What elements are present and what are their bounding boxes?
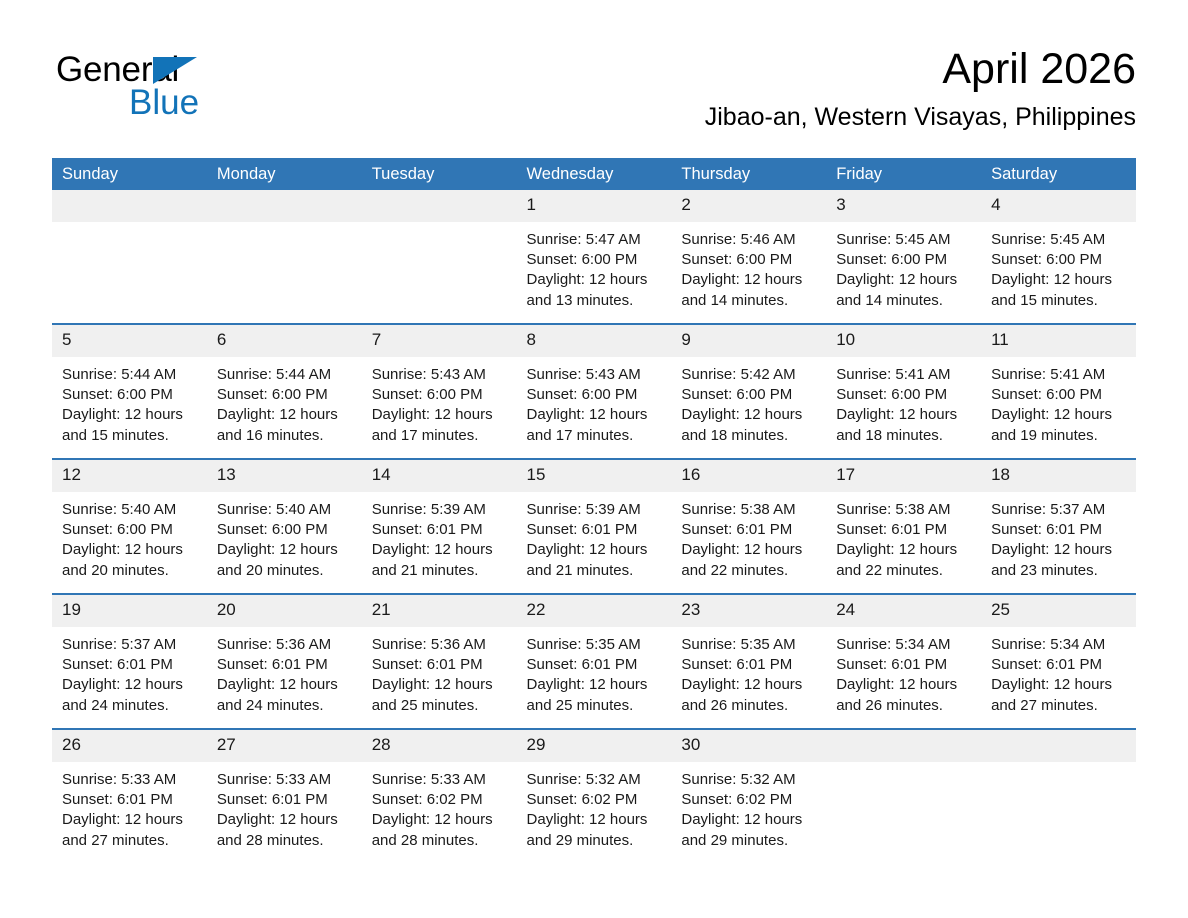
day-cell-inner: 11Sunrise: 5:41 AMSunset: 6:00 PMDayligh…: [981, 325, 1136, 458]
daylight-text-line2: and 22 minutes.: [681, 561, 820, 581]
sunrise-text: Sunrise: 5:37 AM: [991, 500, 1130, 520]
sunset-text: Sunset: 6:00 PM: [991, 385, 1130, 405]
page-title: April 2026: [705, 44, 1136, 94]
calendar-day-cell[interactable]: 15Sunrise: 5:39 AMSunset: 6:01 PMDayligh…: [517, 460, 672, 593]
calendar-day-cell[interactable]: 5Sunrise: 5:44 AMSunset: 6:00 PMDaylight…: [52, 325, 207, 458]
sunrise-text: Sunrise: 5:43 AM: [527, 365, 666, 385]
day-details: Sunrise: 5:45 AMSunset: 6:00 PMDaylight:…: [981, 222, 1136, 311]
day-number: 17: [836, 465, 855, 484]
day-details: Sunrise: 5:38 AMSunset: 6:01 PMDaylight:…: [671, 492, 826, 581]
day-details: Sunrise: 5:32 AMSunset: 6:02 PMDaylight:…: [517, 762, 672, 851]
daylight-text-line1: Daylight: 12 hours: [991, 270, 1130, 290]
day-number-band: 26: [52, 730, 207, 762]
daylight-text-line1: Daylight: 12 hours: [62, 675, 201, 695]
day-number: 27: [217, 735, 236, 754]
calendar-week-row: 5Sunrise: 5:44 AMSunset: 6:00 PMDaylight…: [52, 325, 1136, 458]
day-number-band: [981, 730, 1136, 762]
daylight-text-line2: and 17 minutes.: [372, 426, 511, 446]
calendar-day-cell[interactable]: 17Sunrise: 5:38 AMSunset: 6:01 PMDayligh…: [826, 460, 981, 593]
day-number-band: 6: [207, 325, 362, 357]
daylight-text-line2: and 15 minutes.: [991, 291, 1130, 311]
daylight-text-line2: and 27 minutes.: [991, 696, 1130, 716]
daylight-text-line1: Daylight: 12 hours: [991, 540, 1130, 560]
day-number-band: [362, 190, 517, 222]
general-blue-logo[interactable]: General Blue: [56, 52, 316, 122]
day-number-band: 21: [362, 595, 517, 627]
sunset-text: Sunset: 6:00 PM: [681, 250, 820, 270]
day-number: 28: [372, 735, 391, 754]
day-number: 21: [372, 600, 391, 619]
day-number: 11: [991, 330, 1009, 349]
logo-text-blue: Blue: [129, 85, 199, 120]
day-number-band: 23: [671, 595, 826, 627]
sunrise-text: Sunrise: 5:36 AM: [217, 635, 356, 655]
daylight-text-line1: Daylight: 12 hours: [217, 540, 356, 560]
location-subtitle: Jibao-an, Western Visayas, Philippines: [705, 102, 1136, 132]
sunrise-text: Sunrise: 5:45 AM: [991, 230, 1130, 250]
day-cell-inner: 8Sunrise: 5:43 AMSunset: 6:00 PMDaylight…: [517, 325, 672, 458]
daylight-text-line2: and 23 minutes.: [991, 561, 1130, 581]
calendar-day-cell[interactable]: 16Sunrise: 5:38 AMSunset: 6:01 PMDayligh…: [671, 460, 826, 593]
day-number: 18: [991, 465, 1010, 484]
daylight-text-line1: Daylight: 12 hours: [527, 270, 666, 290]
daylight-text-line1: Daylight: 12 hours: [217, 675, 356, 695]
day-cell-inner: 19Sunrise: 5:37 AMSunset: 6:01 PMDayligh…: [52, 595, 207, 728]
daylight-text-line2: and 22 minutes.: [836, 561, 975, 581]
sunset-text: Sunset: 6:00 PM: [991, 250, 1130, 270]
daylight-text-line2: and 28 minutes.: [372, 831, 511, 851]
day-cell-inner: [52, 190, 207, 323]
day-details: Sunrise: 5:40 AMSunset: 6:00 PMDaylight:…: [207, 492, 362, 581]
day-details: Sunrise: 5:36 AMSunset: 6:01 PMDaylight:…: [362, 627, 517, 716]
day-number: 6: [217, 330, 226, 349]
day-number: 10: [836, 330, 855, 349]
day-cell-inner: 6Sunrise: 5:44 AMSunset: 6:00 PMDaylight…: [207, 325, 362, 458]
sunrise-text: Sunrise: 5:38 AM: [681, 500, 820, 520]
calendar-day-cell[interactable]: 20Sunrise: 5:36 AMSunset: 6:01 PMDayligh…: [207, 595, 362, 728]
sunrise-text: Sunrise: 5:36 AM: [372, 635, 511, 655]
calendar-week-row: 26Sunrise: 5:33 AMSunset: 6:01 PMDayligh…: [52, 730, 1136, 863]
weekday-header-thursday: Thursday: [671, 158, 826, 190]
sunrise-text: Sunrise: 5:33 AM: [217, 770, 356, 790]
day-cell-inner: 12Sunrise: 5:40 AMSunset: 6:00 PMDayligh…: [52, 460, 207, 593]
calendar-day-cell[interactable]: 7Sunrise: 5:43 AMSunset: 6:00 PMDaylight…: [362, 325, 517, 458]
sunrise-text: Sunrise: 5:39 AM: [372, 500, 511, 520]
calendar-day-cell[interactable]: 21Sunrise: 5:36 AMSunset: 6:01 PMDayligh…: [362, 595, 517, 728]
sunrise-text: Sunrise: 5:34 AM: [991, 635, 1130, 655]
day-number: 29: [527, 735, 546, 754]
calendar-day-cell[interactable]: 9Sunrise: 5:42 AMSunset: 6:00 PMDaylight…: [671, 325, 826, 458]
daylight-text-line1: Daylight: 12 hours: [527, 405, 666, 425]
title-block: April 2026 Jibao-an, Western Visayas, Ph…: [705, 44, 1136, 132]
calendar-day-cell[interactable]: 26Sunrise: 5:33 AMSunset: 6:01 PMDayligh…: [52, 730, 207, 863]
day-number-band: 12: [52, 460, 207, 492]
sunrise-text: Sunrise: 5:33 AM: [372, 770, 511, 790]
sunset-text: Sunset: 6:00 PM: [527, 385, 666, 405]
day-details: Sunrise: 5:35 AMSunset: 6:01 PMDaylight:…: [671, 627, 826, 716]
day-cell-inner: 10Sunrise: 5:41 AMSunset: 6:00 PMDayligh…: [826, 325, 981, 458]
sunset-text: Sunset: 6:01 PM: [527, 520, 666, 540]
day-details: Sunrise: 5:41 AMSunset: 6:00 PMDaylight:…: [826, 357, 981, 446]
day-cell-inner: 15Sunrise: 5:39 AMSunset: 6:01 PMDayligh…: [517, 460, 672, 593]
sunrise-text: Sunrise: 5:47 AM: [527, 230, 666, 250]
day-details: Sunrise: 5:45 AMSunset: 6:00 PMDaylight:…: [826, 222, 981, 311]
day-number: 4: [991, 195, 1000, 214]
daylight-text-line2: and 21 minutes.: [527, 561, 666, 581]
calendar-week-row: 1Sunrise: 5:47 AMSunset: 6:00 PMDaylight…: [52, 190, 1136, 323]
day-number-band: 25: [981, 595, 1136, 627]
daylight-text-line1: Daylight: 12 hours: [527, 810, 666, 830]
day-details: [826, 762, 981, 770]
calendar-day-cell[interactable]: 13Sunrise: 5:40 AMSunset: 6:00 PMDayligh…: [207, 460, 362, 593]
sunrise-text: Sunrise: 5:40 AM: [62, 500, 201, 520]
sunset-text: Sunset: 6:01 PM: [681, 520, 820, 540]
daylight-text-line1: Daylight: 12 hours: [217, 405, 356, 425]
sunrise-text: Sunrise: 5:46 AM: [681, 230, 820, 250]
day-number: 14: [372, 465, 391, 484]
day-cell-inner: 20Sunrise: 5:36 AMSunset: 6:01 PMDayligh…: [207, 595, 362, 728]
day-details: Sunrise: 5:36 AMSunset: 6:01 PMDaylight:…: [207, 627, 362, 716]
calendar-day-cell[interactable]: 1Sunrise: 5:47 AMSunset: 6:00 PMDaylight…: [517, 190, 672, 323]
sunset-text: Sunset: 6:00 PM: [372, 385, 511, 405]
day-number-band: 13: [207, 460, 362, 492]
day-cell-inner: 16Sunrise: 5:38 AMSunset: 6:01 PMDayligh…: [671, 460, 826, 593]
daylight-text-line2: and 17 minutes.: [527, 426, 666, 446]
daylight-text-line2: and 25 minutes.: [372, 696, 511, 716]
calendar-day-cell[interactable]: 11Sunrise: 5:41 AMSunset: 6:00 PMDayligh…: [981, 325, 1136, 458]
day-cell-inner: [826, 730, 981, 863]
weekday-header-sunday: Sunday: [52, 158, 207, 190]
daylight-text-line2: and 16 minutes.: [217, 426, 356, 446]
day-number: 5: [62, 330, 71, 349]
daylight-text-line1: Daylight: 12 hours: [527, 675, 666, 695]
day-number-band: 29: [517, 730, 672, 762]
day-cell-inner: [981, 730, 1136, 863]
calendar-day-cell[interactable]: 27Sunrise: 5:33 AMSunset: 6:01 PMDayligh…: [207, 730, 362, 863]
sunset-text: Sunset: 6:01 PM: [217, 790, 356, 810]
calendar-week-row: 12Sunrise: 5:40 AMSunset: 6:00 PMDayligh…: [52, 460, 1136, 593]
weekday-header-monday: Monday: [207, 158, 362, 190]
day-number: 24: [836, 600, 855, 619]
day-details: Sunrise: 5:41 AMSunset: 6:00 PMDaylight:…: [981, 357, 1136, 446]
day-details: Sunrise: 5:32 AMSunset: 6:02 PMDaylight:…: [671, 762, 826, 851]
daylight-text-line1: Daylight: 12 hours: [681, 540, 820, 560]
day-cell-inner: 24Sunrise: 5:34 AMSunset: 6:01 PMDayligh…: [826, 595, 981, 728]
day-details: Sunrise: 5:43 AMSunset: 6:00 PMDaylight:…: [517, 357, 672, 446]
calendar-body: 1Sunrise: 5:47 AMSunset: 6:00 PMDaylight…: [52, 190, 1136, 863]
daylight-text-line1: Daylight: 12 hours: [217, 810, 356, 830]
daylight-text-line1: Daylight: 12 hours: [991, 405, 1130, 425]
calendar-day-cell[interactable]: 25Sunrise: 5:34 AMSunset: 6:01 PMDayligh…: [981, 595, 1136, 728]
sunset-text: Sunset: 6:01 PM: [991, 655, 1130, 675]
sunrise-text: Sunrise: 5:42 AM: [681, 365, 820, 385]
day-number: 13: [217, 465, 236, 484]
sunset-text: Sunset: 6:00 PM: [217, 520, 356, 540]
day-details: Sunrise: 5:46 AMSunset: 6:00 PMDaylight:…: [671, 222, 826, 311]
day-number-band: [52, 190, 207, 222]
day-details: Sunrise: 5:33 AMSunset: 6:01 PMDaylight:…: [52, 762, 207, 851]
daylight-text-line1: Daylight: 12 hours: [372, 810, 511, 830]
daylight-text-line2: and 26 minutes.: [681, 696, 820, 716]
sunset-text: Sunset: 6:02 PM: [681, 790, 820, 810]
calendar-day-cell[interactable]: 3Sunrise: 5:45 AMSunset: 6:00 PMDaylight…: [826, 190, 981, 323]
sunrise-text: Sunrise: 5:39 AM: [527, 500, 666, 520]
weekday-header-friday: Friday: [826, 158, 981, 190]
daylight-text-line2: and 25 minutes.: [527, 696, 666, 716]
day-cell-inner: 22Sunrise: 5:35 AMSunset: 6:01 PMDayligh…: [517, 595, 672, 728]
sunset-text: Sunset: 6:01 PM: [217, 655, 356, 675]
weekday-header-saturday: Saturday: [981, 158, 1136, 190]
day-number-band: 27: [207, 730, 362, 762]
daylight-text-line1: Daylight: 12 hours: [991, 675, 1130, 695]
sunset-text: Sunset: 6:00 PM: [681, 385, 820, 405]
day-number-band: 28: [362, 730, 517, 762]
daylight-text-line2: and 24 minutes.: [217, 696, 356, 716]
daylight-text-line1: Daylight: 12 hours: [681, 810, 820, 830]
day-number-band: 2: [671, 190, 826, 222]
calendar-day-cell[interactable]: 30Sunrise: 5:32 AMSunset: 6:02 PMDayligh…: [671, 730, 826, 863]
calendar-empty-cell: [981, 730, 1136, 863]
daylight-text-line2: and 15 minutes.: [62, 426, 201, 446]
day-details: [981, 762, 1136, 770]
day-cell-inner: [207, 190, 362, 323]
day-cell-inner: 28Sunrise: 5:33 AMSunset: 6:02 PMDayligh…: [362, 730, 517, 863]
calendar-empty-cell: [826, 730, 981, 863]
day-cell-inner: 26Sunrise: 5:33 AMSunset: 6:01 PMDayligh…: [52, 730, 207, 863]
day-number: 7: [372, 330, 381, 349]
sunrise-text: Sunrise: 5:40 AM: [217, 500, 356, 520]
daylight-text-line2: and 29 minutes.: [527, 831, 666, 851]
daylight-text-line2: and 26 minutes.: [836, 696, 975, 716]
calendar-day-cell[interactable]: 10Sunrise: 5:41 AMSunset: 6:00 PMDayligh…: [826, 325, 981, 458]
day-number-band: 15: [517, 460, 672, 492]
day-number: 8: [527, 330, 536, 349]
day-number-band: [207, 190, 362, 222]
daylight-text-line2: and 24 minutes.: [62, 696, 201, 716]
daylight-text-line1: Daylight: 12 hours: [836, 675, 975, 695]
day-number-band: 4: [981, 190, 1136, 222]
day-number-band: 9: [671, 325, 826, 357]
calendar-day-cell[interactable]: 4Sunrise: 5:45 AMSunset: 6:00 PMDaylight…: [981, 190, 1136, 323]
sunset-text: Sunset: 6:01 PM: [62, 655, 201, 675]
day-cell-inner: 21Sunrise: 5:36 AMSunset: 6:01 PMDayligh…: [362, 595, 517, 728]
day-details: Sunrise: 5:42 AMSunset: 6:00 PMDaylight:…: [671, 357, 826, 446]
day-cell-inner: 25Sunrise: 5:34 AMSunset: 6:01 PMDayligh…: [981, 595, 1136, 728]
day-number: 3: [836, 195, 845, 214]
calendar-table: SundayMondayTuesdayWednesdayThursdayFrid…: [52, 158, 1136, 863]
calendar-week-row: 19Sunrise: 5:37 AMSunset: 6:01 PMDayligh…: [52, 595, 1136, 728]
sunset-text: Sunset: 6:00 PM: [62, 385, 201, 405]
sunrise-text: Sunrise: 5:37 AM: [62, 635, 201, 655]
sunrise-text: Sunrise: 5:35 AM: [527, 635, 666, 655]
page-header: General Blue April 2026 Jibao-an, Wester…: [52, 44, 1136, 149]
sunset-text: Sunset: 6:02 PM: [527, 790, 666, 810]
day-number-band: 11: [981, 325, 1136, 357]
daylight-text-line1: Daylight: 12 hours: [527, 540, 666, 560]
day-number: 2: [681, 195, 690, 214]
calendar-header-row: SundayMondayTuesdayWednesdayThursdayFrid…: [52, 158, 1136, 190]
calendar-empty-cell: [52, 190, 207, 323]
daylight-text-line1: Daylight: 12 hours: [681, 675, 820, 695]
sunset-text: Sunset: 6:02 PM: [372, 790, 511, 810]
calendar-day-cell[interactable]: 24Sunrise: 5:34 AMSunset: 6:01 PMDayligh…: [826, 595, 981, 728]
day-number: 26: [62, 735, 81, 754]
day-cell-inner: 14Sunrise: 5:39 AMSunset: 6:01 PMDayligh…: [362, 460, 517, 593]
calendar-day-cell[interactable]: 29Sunrise: 5:32 AMSunset: 6:02 PMDayligh…: [517, 730, 672, 863]
sunrise-text: Sunrise: 5:41 AM: [836, 365, 975, 385]
calendar-day-cell[interactable]: 2Sunrise: 5:46 AMSunset: 6:00 PMDaylight…: [671, 190, 826, 323]
sunset-text: Sunset: 6:00 PM: [836, 385, 975, 405]
day-details: Sunrise: 5:33 AMSunset: 6:02 PMDaylight:…: [362, 762, 517, 851]
calendar-day-cell[interactable]: 28Sunrise: 5:33 AMSunset: 6:02 PMDayligh…: [362, 730, 517, 863]
daylight-text-line1: Daylight: 12 hours: [62, 810, 201, 830]
daylight-text-line2: and 19 minutes.: [991, 426, 1130, 446]
day-number-band: 22: [517, 595, 672, 627]
day-cell-inner: [362, 190, 517, 323]
calendar-day-cell[interactable]: 8Sunrise: 5:43 AMSunset: 6:00 PMDaylight…: [517, 325, 672, 458]
daylight-text-line1: Daylight: 12 hours: [372, 540, 511, 560]
day-number-band: 5: [52, 325, 207, 357]
day-details: Sunrise: 5:47 AMSunset: 6:00 PMDaylight:…: [517, 222, 672, 311]
day-cell-inner: 17Sunrise: 5:38 AMSunset: 6:01 PMDayligh…: [826, 460, 981, 593]
daylight-text-line2: and 14 minutes.: [836, 291, 975, 311]
calendar-day-cell[interactable]: 23Sunrise: 5:35 AMSunset: 6:01 PMDayligh…: [671, 595, 826, 728]
sunrise-text: Sunrise: 5:38 AM: [836, 500, 975, 520]
day-details: Sunrise: 5:44 AMSunset: 6:00 PMDaylight:…: [207, 357, 362, 446]
daylight-text-line2: and 21 minutes.: [372, 561, 511, 581]
sunset-text: Sunset: 6:00 PM: [62, 520, 201, 540]
day-cell-inner: 29Sunrise: 5:32 AMSunset: 6:02 PMDayligh…: [517, 730, 672, 863]
day-number: 25: [991, 600, 1010, 619]
day-number-band: 24: [826, 595, 981, 627]
day-number-band: 20: [207, 595, 362, 627]
day-number: 22: [527, 600, 546, 619]
calendar-day-cell[interactable]: 19Sunrise: 5:37 AMSunset: 6:01 PMDayligh…: [52, 595, 207, 728]
daylight-text-line1: Daylight: 12 hours: [372, 405, 511, 425]
day-details: Sunrise: 5:34 AMSunset: 6:01 PMDaylight:…: [981, 627, 1136, 716]
daylight-text-line2: and 13 minutes.: [527, 291, 666, 311]
calendar-empty-cell: [362, 190, 517, 323]
daylight-text-line2: and 20 minutes.: [62, 561, 201, 581]
daylight-text-line2: and 14 minutes.: [681, 291, 820, 311]
day-number: 9: [681, 330, 690, 349]
calendar-day-cell[interactable]: 12Sunrise: 5:40 AMSunset: 6:00 PMDayligh…: [52, 460, 207, 593]
day-number: 15: [527, 465, 546, 484]
day-cell-inner: 18Sunrise: 5:37 AMSunset: 6:01 PMDayligh…: [981, 460, 1136, 593]
day-number-band: 17: [826, 460, 981, 492]
sunset-text: Sunset: 6:01 PM: [62, 790, 201, 810]
daylight-text-line2: and 18 minutes.: [681, 426, 820, 446]
day-number: 23: [681, 600, 700, 619]
sunset-text: Sunset: 6:01 PM: [681, 655, 820, 675]
day-number: 19: [62, 600, 81, 619]
day-number-band: 1: [517, 190, 672, 222]
day-details: [52, 222, 207, 230]
sunrise-text: Sunrise: 5:43 AM: [372, 365, 511, 385]
daylight-text-line1: Daylight: 12 hours: [372, 675, 511, 695]
calendar-empty-cell: [207, 190, 362, 323]
sunrise-text: Sunrise: 5:32 AM: [681, 770, 820, 790]
sunset-text: Sunset: 6:01 PM: [372, 655, 511, 675]
day-details: Sunrise: 5:44 AMSunset: 6:00 PMDaylight:…: [52, 357, 207, 446]
day-cell-inner: 1Sunrise: 5:47 AMSunset: 6:00 PMDaylight…: [517, 190, 672, 323]
day-details: Sunrise: 5:43 AMSunset: 6:00 PMDaylight:…: [362, 357, 517, 446]
day-cell-inner: 27Sunrise: 5:33 AMSunset: 6:01 PMDayligh…: [207, 730, 362, 863]
day-details: Sunrise: 5:35 AMSunset: 6:01 PMDaylight:…: [517, 627, 672, 716]
daylight-text-line1: Daylight: 12 hours: [62, 540, 201, 560]
weekday-header-tuesday: Tuesday: [362, 158, 517, 190]
sunrise-text: Sunrise: 5:44 AM: [217, 365, 356, 385]
sunrise-text: Sunrise: 5:34 AM: [836, 635, 975, 655]
day-details: Sunrise: 5:40 AMSunset: 6:00 PMDaylight:…: [52, 492, 207, 581]
daylight-text-line2: and 20 minutes.: [217, 561, 356, 581]
day-number-band: 30: [671, 730, 826, 762]
daylight-text-line1: Daylight: 12 hours: [681, 405, 820, 425]
day-number: 1: [527, 195, 536, 214]
sunset-text: Sunset: 6:01 PM: [527, 655, 666, 675]
daylight-text-line1: Daylight: 12 hours: [62, 405, 201, 425]
day-cell-inner: 4Sunrise: 5:45 AMSunset: 6:00 PMDaylight…: [981, 190, 1136, 323]
day-number: 12: [62, 465, 81, 484]
day-details: Sunrise: 5:37 AMSunset: 6:01 PMDaylight:…: [52, 627, 207, 716]
sunset-text: Sunset: 6:01 PM: [991, 520, 1130, 540]
calendar-page: General Blue April 2026 Jibao-an, Wester…: [0, 0, 1188, 918]
day-cell-inner: 23Sunrise: 5:35 AMSunset: 6:01 PMDayligh…: [671, 595, 826, 728]
daylight-text-line2: and 28 minutes.: [217, 831, 356, 851]
day-cell-inner: 3Sunrise: 5:45 AMSunset: 6:00 PMDaylight…: [826, 190, 981, 323]
sunrise-text: Sunrise: 5:33 AM: [62, 770, 201, 790]
day-cell-inner: 13Sunrise: 5:40 AMSunset: 6:00 PMDayligh…: [207, 460, 362, 593]
sunrise-text: Sunrise: 5:41 AM: [991, 365, 1130, 385]
sunrise-text: Sunrise: 5:35 AM: [681, 635, 820, 655]
day-number-band: 19: [52, 595, 207, 627]
day-number-band: [826, 730, 981, 762]
day-details: Sunrise: 5:33 AMSunset: 6:01 PMDaylight:…: [207, 762, 362, 851]
calendar-day-cell[interactable]: 18Sunrise: 5:37 AMSunset: 6:01 PMDayligh…: [981, 460, 1136, 593]
sunset-text: Sunset: 6:00 PM: [217, 385, 356, 405]
day-cell-inner: 9Sunrise: 5:42 AMSunset: 6:00 PMDaylight…: [671, 325, 826, 458]
day-number-band: 14: [362, 460, 517, 492]
daylight-text-line2: and 27 minutes.: [62, 831, 201, 851]
sunrise-text: Sunrise: 5:45 AM: [836, 230, 975, 250]
daylight-text-line2: and 29 minutes.: [681, 831, 820, 851]
day-number-band: 7: [362, 325, 517, 357]
day-details: [207, 222, 362, 230]
calendar-day-cell[interactable]: 14Sunrise: 5:39 AMSunset: 6:01 PMDayligh…: [362, 460, 517, 593]
day-number-band: 16: [671, 460, 826, 492]
day-number: 20: [217, 600, 236, 619]
daylight-text-line1: Daylight: 12 hours: [681, 270, 820, 290]
day-cell-inner: 5Sunrise: 5:44 AMSunset: 6:00 PMDaylight…: [52, 325, 207, 458]
day-details: [362, 222, 517, 230]
sunrise-text: Sunrise: 5:44 AM: [62, 365, 201, 385]
sunset-text: Sunset: 6:01 PM: [836, 520, 975, 540]
calendar-day-cell[interactable]: 6Sunrise: 5:44 AMSunset: 6:00 PMDaylight…: [207, 325, 362, 458]
day-cell-inner: 30Sunrise: 5:32 AMSunset: 6:02 PMDayligh…: [671, 730, 826, 863]
sunset-text: Sunset: 6:00 PM: [836, 250, 975, 270]
sunset-text: Sunset: 6:01 PM: [372, 520, 511, 540]
calendar-day-cell[interactable]: 22Sunrise: 5:35 AMSunset: 6:01 PMDayligh…: [517, 595, 672, 728]
day-number-band: 10: [826, 325, 981, 357]
daylight-text-line1: Daylight: 12 hours: [836, 540, 975, 560]
day-details: Sunrise: 5:34 AMSunset: 6:01 PMDaylight:…: [826, 627, 981, 716]
day-details: Sunrise: 5:37 AMSunset: 6:01 PMDaylight:…: [981, 492, 1136, 581]
day-cell-inner: 2Sunrise: 5:46 AMSunset: 6:00 PMDaylight…: [671, 190, 826, 323]
day-number-band: 18: [981, 460, 1136, 492]
day-cell-inner: 7Sunrise: 5:43 AMSunset: 6:00 PMDaylight…: [362, 325, 517, 458]
daylight-text-line1: Daylight: 12 hours: [836, 405, 975, 425]
day-details: Sunrise: 5:39 AMSunset: 6:01 PMDaylight:…: [517, 492, 672, 581]
